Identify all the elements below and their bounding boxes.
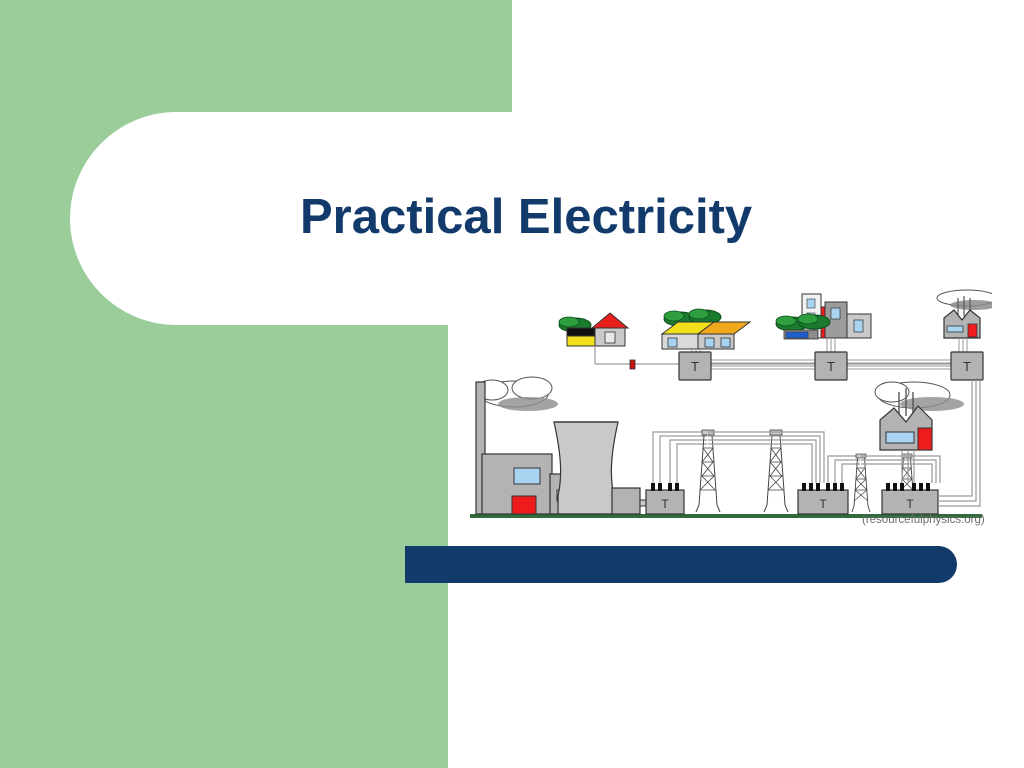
- distribution-transformer-3: T: [951, 352, 983, 380]
- upper-transmission-wires: [595, 360, 982, 369]
- house-single: [559, 313, 635, 369]
- transformer-label: T: [661, 497, 669, 511]
- page-title: Practical Electricity: [300, 183, 980, 253]
- pylon-small-1: [852, 454, 870, 512]
- transformer-label: T: [906, 497, 914, 511]
- pylon-large-2: [764, 430, 788, 512]
- navy-accent-bar: [405, 546, 957, 583]
- slide-canvas: Practical Electricity: [0, 0, 1024, 768]
- pylon-large-1: [696, 430, 720, 512]
- transformer-label: T: [691, 359, 699, 374]
- step-down-transformer-1: T: [798, 456, 860, 514]
- figure-caption: (resourcefulphysics.org): [862, 514, 985, 526]
- electricity-distribution-diagram: T T: [462, 282, 992, 537]
- transformer-label: T: [963, 359, 971, 374]
- factory-lower: [875, 382, 964, 483]
- distribution-transformer-1: T: [679, 352, 711, 380]
- transformer-label: T: [819, 497, 827, 511]
- green-panel-top: [0, 0, 512, 113]
- transformer-label: T: [827, 359, 835, 374]
- factory-upper: [937, 290, 992, 360]
- step-up-transformer: T: [646, 432, 707, 514]
- power-station: [476, 377, 656, 514]
- town-buildings: [776, 294, 871, 360]
- distribution-transformer-2: T: [815, 352, 847, 380]
